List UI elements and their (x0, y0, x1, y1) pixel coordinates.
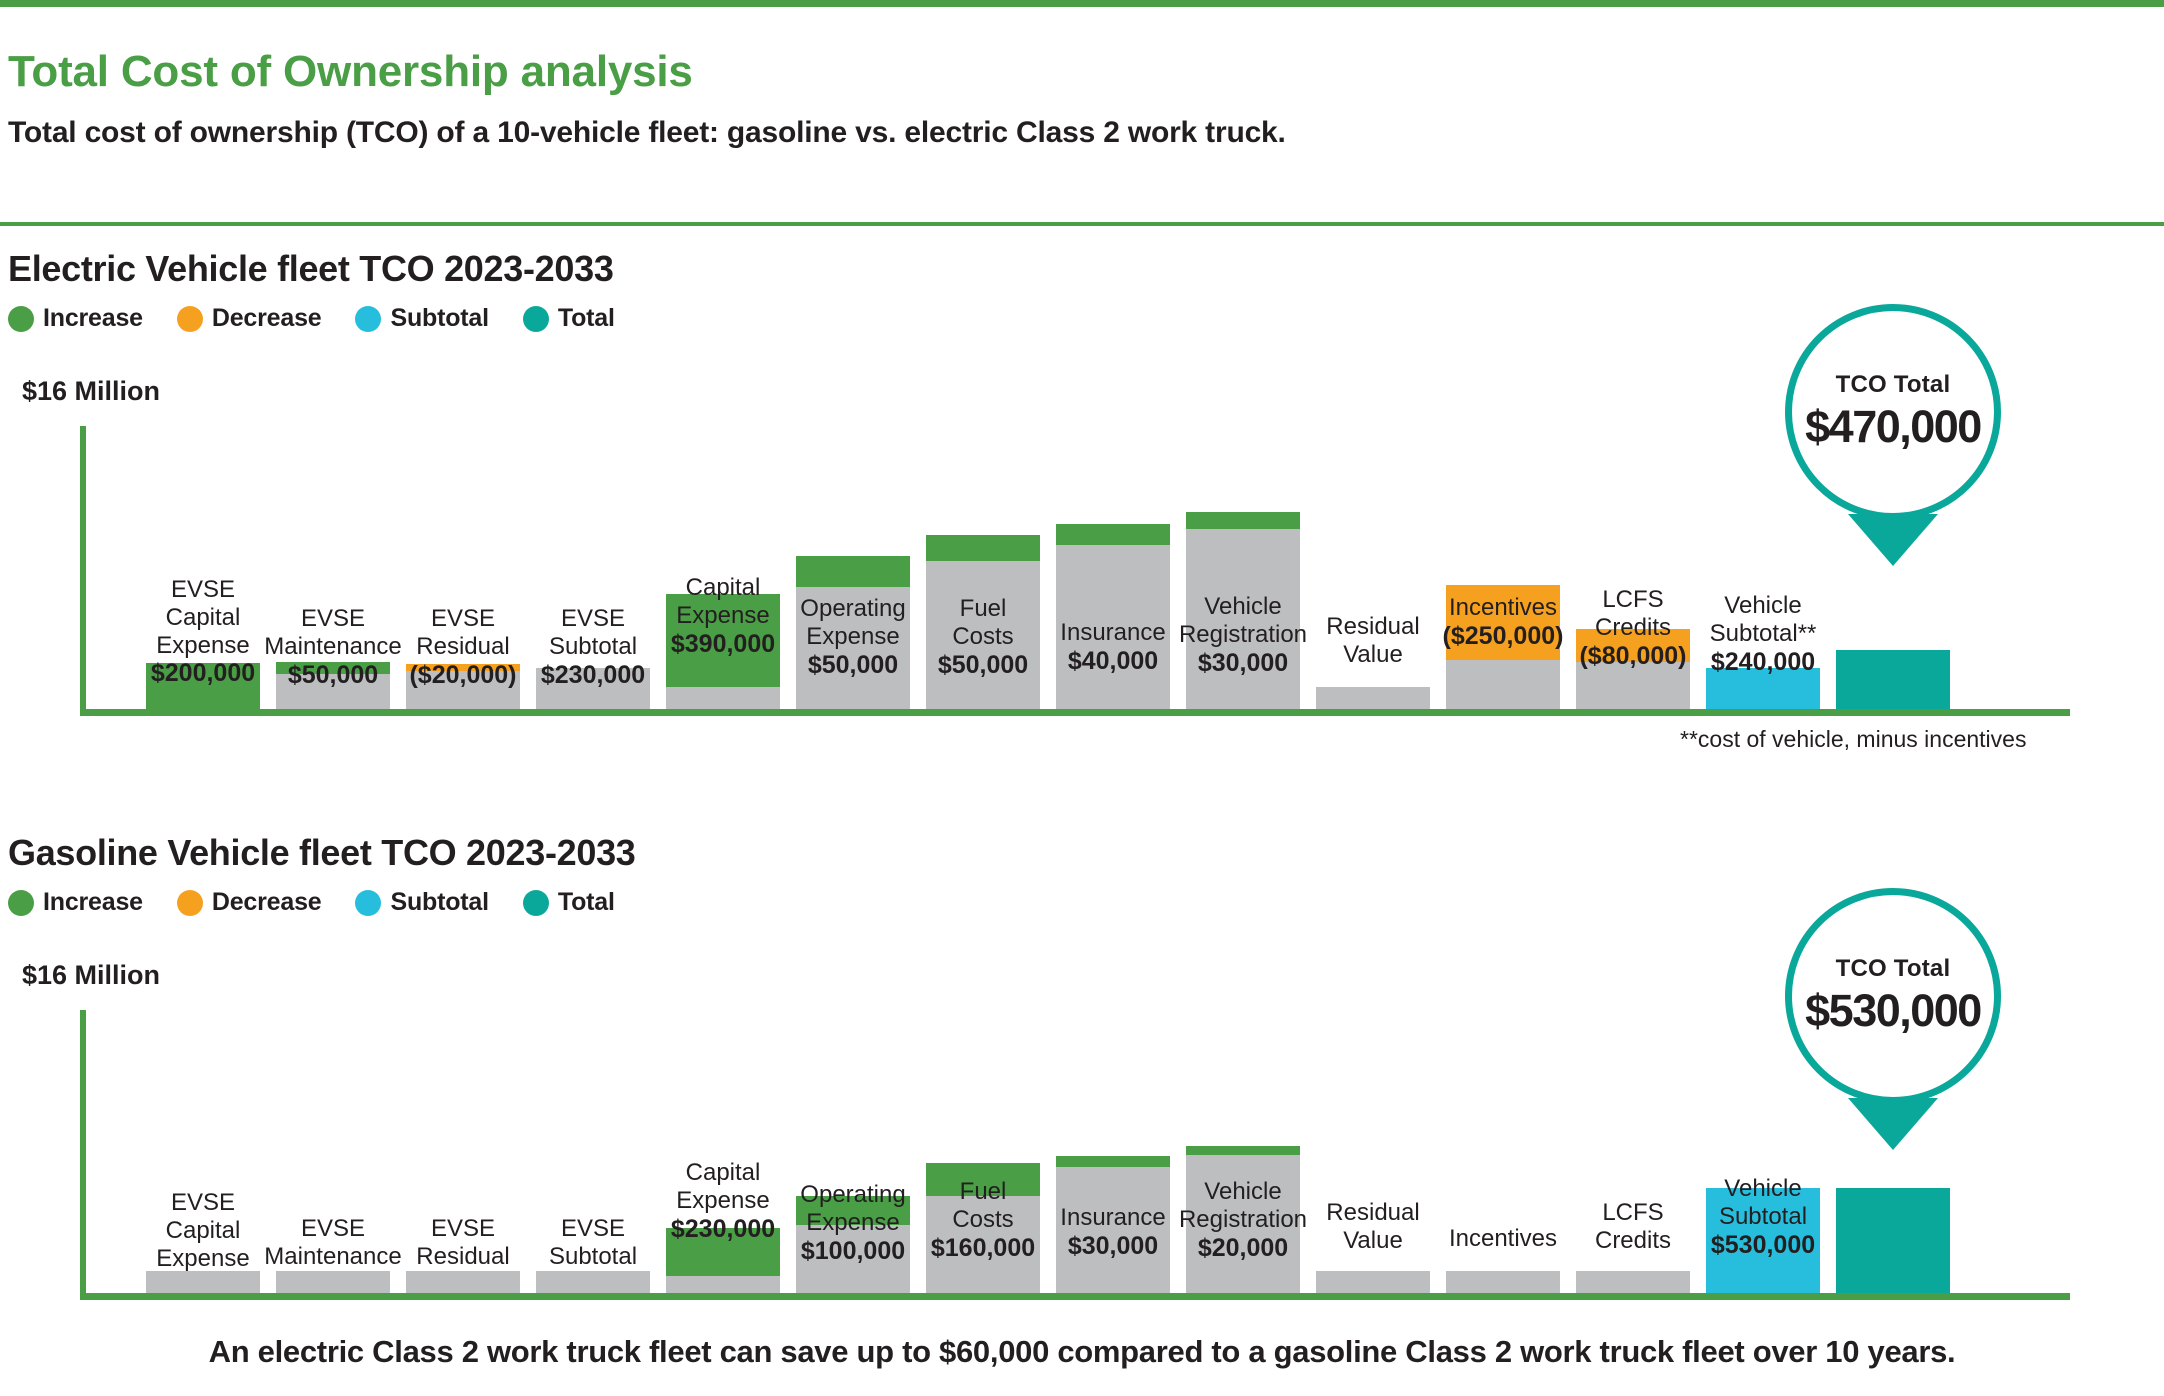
bar-value-label: ($20,000) (409, 661, 516, 690)
bar-segment-base (1316, 687, 1430, 709)
bar-segment-increase (1186, 512, 1300, 529)
bar-category-line: Credits (1579, 614, 1686, 642)
chart-title-ev: Electric Vehicle fleet TCO 2023-2033 (8, 248, 614, 290)
bar-segment-base (1316, 1271, 1430, 1293)
chart-footnote: **cost of vehicle, minus incentives (1680, 726, 2026, 753)
bar-segment-base (276, 1271, 390, 1293)
callout-pointer-icon (1848, 514, 1938, 566)
bar-category-line: Value (1326, 641, 1419, 669)
legend-label: Increase (43, 888, 143, 917)
bar-value-label: ($250,000) (1443, 622, 1564, 651)
circle-icon (177, 306, 203, 332)
legend-item-increase[interactable]: Increase (8, 888, 143, 917)
bar-value-label: $240,000 (1710, 648, 1817, 677)
bar-value-label: $200,000 (151, 659, 255, 688)
bar-label: VehicleSubtotal$530,000 (1711, 1175, 1815, 1260)
bar-category-line: Expense (671, 602, 775, 630)
bar-category-line: Residual (416, 1243, 509, 1271)
bar-category-line: Capital (156, 1217, 249, 1245)
bar-label: LCFSCredits (1595, 1199, 1671, 1255)
bar-label: OperatingExpense$50,000 (800, 595, 905, 680)
bar-category-line: Insurance (1060, 1204, 1165, 1232)
chart-legend: IncreaseDecreaseSubtotalTotal (8, 888, 615, 917)
bar-category-line: EVSE (264, 605, 401, 633)
chart-legend: IncreaseDecreaseSubtotalTotal (8, 304, 615, 333)
bar-stack (1316, 1271, 1430, 1293)
callout-title: TCO Total (1836, 955, 1951, 983)
bar-category-line: Expense (156, 1245, 249, 1273)
bar-value-label: $160,000 (931, 1234, 1035, 1263)
bar-stack (146, 1271, 260, 1293)
bar-label: EVSESubtotal (549, 1215, 637, 1271)
bar-stack (406, 1271, 520, 1293)
bar-label: EVSEMaintenance (264, 1215, 401, 1271)
bar-category-line: Residual (409, 633, 516, 661)
bar-label: EVSEMaintenance$50,000 (264, 605, 401, 690)
bar-segment-increase (1056, 1156, 1170, 1167)
bar-category-line: Fuel (931, 1178, 1035, 1206)
bar-label: FuelCosts$160,000 (931, 1178, 1035, 1263)
bar-category-line: EVSE (409, 605, 516, 633)
bar-category-line: Vehicle (1179, 593, 1307, 621)
circle-icon (177, 890, 203, 916)
bar-category-line: Expense (800, 1209, 905, 1237)
legend-label: Increase (43, 304, 143, 333)
bar-segment-base (1446, 1271, 1560, 1293)
callout-title: TCO Total (1836, 371, 1951, 399)
bar-label: CapitalExpense$390,000 (671, 574, 775, 659)
bar-segment-increase (796, 556, 910, 587)
tco-infographic-page: Total Cost of Ownership analysis Total c… (0, 0, 2164, 1396)
legend-item-increase[interactable]: Increase (8, 304, 143, 333)
bar-stack (1576, 1271, 1690, 1293)
legend-item-subtotal[interactable]: Subtotal (355, 304, 488, 333)
bar-category-line: LCFS (1595, 1199, 1671, 1227)
bar-label: Incentives($250,000) (1443, 594, 1564, 651)
bar-category-line: EVSE (156, 1189, 249, 1217)
bar-category-line: Expense (151, 632, 255, 660)
bar-value-label: $50,000 (800, 651, 905, 680)
y-axis-max-label: $16 Million (22, 960, 160, 991)
bar-stack (1836, 1188, 1950, 1293)
bar-label: VehicleSubtotal**$240,000 (1710, 592, 1817, 677)
circle-icon (355, 890, 381, 916)
bar-stack (1056, 524, 1170, 709)
circle-icon (355, 306, 381, 332)
bar-value-label: $230,000 (541, 661, 645, 690)
bar-value-label: $390,000 (671, 630, 775, 659)
bar-category-line: EVSE (416, 1215, 509, 1243)
bar-category-line: Capital (671, 574, 775, 602)
bar-label: ResidualValue (1326, 1199, 1419, 1255)
page-title: Total Cost of Ownership analysis (8, 48, 2128, 96)
top-accent-rule (0, 0, 2164, 7)
bar-label: EVSESubtotal$230,000 (541, 605, 645, 690)
bar-segment-base (1446, 660, 1560, 709)
bar-label: EVSECapitalExpense (156, 1189, 249, 1272)
header-divider (0, 222, 2164, 226)
circle-icon (523, 306, 549, 332)
bar-category-line: Insurance (1060, 619, 1165, 647)
bar-stack (1446, 1271, 1560, 1293)
bar-category-line: EVSE (151, 576, 255, 604)
x-axis-line (80, 709, 2070, 716)
bar-label: LCFSCredits($80,000) (1579, 586, 1686, 671)
bar-segment-base (1576, 1271, 1690, 1293)
bar-category-line: Incentives (1449, 1225, 1557, 1253)
x-axis-line (80, 1293, 2070, 1300)
bar-category-line: Vehicle (1711, 1175, 1815, 1203)
bar-category-line: Capital (671, 1159, 775, 1187)
callout-value: $470,000 (1805, 401, 1981, 453)
bar-segment-base (666, 1276, 780, 1293)
bar-stack (536, 1271, 650, 1293)
bar-segment-base (406, 1271, 520, 1293)
callout-pointer-icon (1848, 1098, 1938, 1150)
tco-total-callout: TCO Total$530,000 (1785, 888, 2001, 1104)
circle-icon (8, 890, 34, 916)
bar-value-label: $50,000 (264, 661, 401, 690)
bar-label: Insurance$40,000 (1060, 619, 1165, 676)
bar-stack (1836, 650, 1950, 709)
bar-category-line: Operating (800, 1181, 905, 1209)
bar-category-line: Costs (938, 623, 1028, 651)
bar-segment-base (666, 687, 780, 709)
bar-segment-increase (1056, 524, 1170, 545)
legend-item-total[interactable]: Total (523, 304, 615, 333)
bar-category-line: Vehicle (1179, 1178, 1307, 1206)
bar-category-line: Subtotal (549, 1243, 637, 1271)
bar-category-line: Costs (931, 1206, 1035, 1234)
page-subtitle: Total cost of ownership (TCO) of a 10-ve… (8, 116, 2128, 151)
bar-category-line: Credits (1595, 1227, 1671, 1255)
legend-label: Decrease (212, 304, 322, 333)
chart-title-gas: Gasoline Vehicle fleet TCO 2023-2033 (8, 832, 636, 874)
bar-category-line: Subtotal (541, 633, 645, 661)
y-axis-line (80, 1010, 86, 1300)
bar-category-line: Subtotal (1711, 1203, 1815, 1231)
bar-category-line: Expense (800, 623, 905, 651)
bar-segment-increase (926, 535, 1040, 561)
bar-value-label: $50,000 (938, 651, 1028, 680)
bar-category-line: EVSE (264, 1215, 401, 1243)
bar-label: OperatingExpense$100,000 (800, 1181, 905, 1266)
bar-category-line: Value (1326, 1227, 1419, 1255)
page-header: Total Cost of Ownership analysis Total c… (8, 48, 2128, 151)
bar-stack (276, 1271, 390, 1293)
tco-total-callout: TCO Total$470,000 (1785, 304, 2001, 520)
bar-category-line: Registration (1179, 1206, 1307, 1234)
plot-area-ev: EVSECapitalExpense$200,000EVSEMaintenanc… (80, 426, 2080, 716)
bottom-caption: An electric Class 2 work truck fleet can… (0, 1334, 2164, 1370)
bar-label: VehicleRegistration$20,000 (1179, 1178, 1307, 1263)
bar-category-line: EVSE (549, 1215, 637, 1243)
bar-category-line: Operating (800, 595, 905, 623)
bar-label: VehicleRegistration$30,000 (1179, 593, 1307, 678)
bar-label: ResidualValue (1326, 613, 1419, 669)
bar-segment-base (536, 1271, 650, 1293)
bar-category-line: Registration (1179, 621, 1307, 649)
bar-category-line: Incentives (1443, 594, 1564, 622)
y-axis-line (80, 426, 86, 716)
bar-category-line: Capital (151, 604, 255, 632)
legend-item-subtotal[interactable]: Subtotal (355, 888, 488, 917)
bar-label: EVSEResidual (416, 1215, 509, 1271)
plot-area-gas: EVSECapitalExpenseEVSEMaintenanceEVSERes… (80, 1010, 2080, 1300)
y-axis-max-label: $16 Million (22, 376, 160, 407)
bar-segment-total (1836, 650, 1950, 709)
legend-item-decrease[interactable]: Decrease (177, 888, 322, 917)
bar-category-line: Vehicle (1710, 592, 1817, 620)
bar-value-label: $40,000 (1060, 647, 1165, 676)
bar-category-line: Maintenance (264, 1243, 401, 1271)
bar-segment-increase (1186, 1146, 1300, 1155)
bar-label: Insurance$30,000 (1060, 1204, 1165, 1261)
legend-label: Total (558, 304, 615, 333)
bar-category-line: EVSE (541, 605, 645, 633)
bar-segment-total (1836, 1188, 1950, 1293)
bar-category-line: Residual (1326, 613, 1419, 641)
bar-category-line: Residual (1326, 1199, 1419, 1227)
bar-value-label: $30,000 (1179, 649, 1307, 678)
legend-label: Subtotal (390, 888, 488, 917)
bar-label: CapitalExpense$230,000 (671, 1159, 775, 1244)
circle-icon (523, 890, 549, 916)
bar-value-label: ($80,000) (1579, 642, 1686, 671)
bar-value-label: $20,000 (1179, 1234, 1307, 1263)
legend-item-total[interactable]: Total (523, 888, 615, 917)
bar-label: EVSECapitalExpense$200,000 (151, 576, 255, 688)
legend-label: Decrease (212, 888, 322, 917)
bar-stack (1316, 687, 1430, 709)
legend-item-decrease[interactable]: Decrease (177, 304, 322, 333)
callout-value: $530,000 (1805, 985, 1981, 1037)
bar-value-label: $230,000 (671, 1215, 775, 1244)
bar-segment-base (146, 1271, 260, 1293)
bar-value-label: $530,000 (1711, 1231, 1815, 1260)
bar-category-line: Subtotal** (1710, 620, 1817, 648)
bar-category-line: Fuel (938, 595, 1028, 623)
bar-category-line: LCFS (1579, 586, 1686, 614)
bar-value-label: $100,000 (800, 1237, 905, 1266)
legend-label: Subtotal (390, 304, 488, 333)
bar-category-line: Maintenance (264, 633, 401, 661)
circle-icon (8, 306, 34, 332)
bar-label: FuelCosts$50,000 (938, 595, 1028, 680)
bar-category-line: Expense (671, 1187, 775, 1215)
bar-label: Incentives (1449, 1225, 1557, 1253)
bar-label: EVSEResidual($20,000) (409, 605, 516, 690)
legend-label: Total (558, 888, 615, 917)
bar-value-label: $30,000 (1060, 1232, 1165, 1261)
